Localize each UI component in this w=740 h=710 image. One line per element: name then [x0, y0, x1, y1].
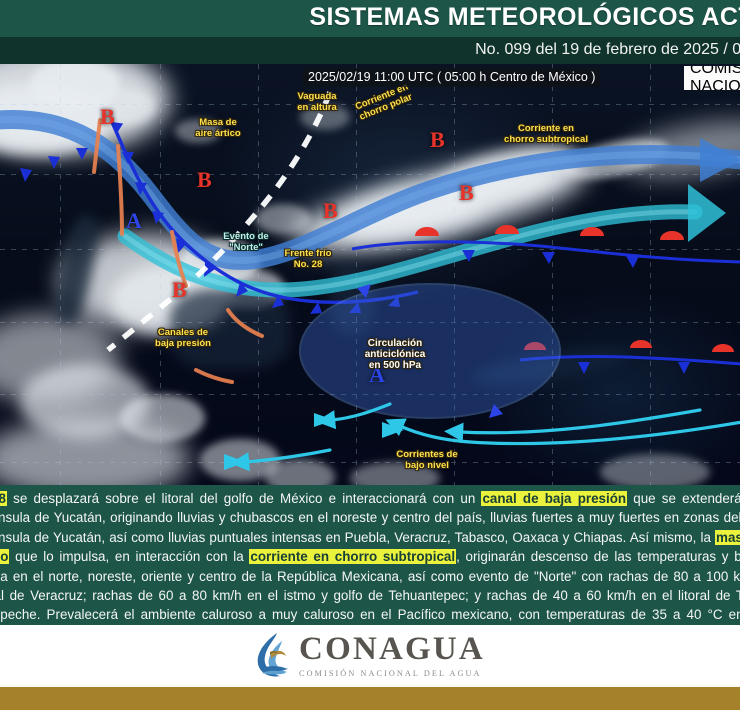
bulletin-paragraph: o. 28 se desplazará sobre el litoral del… — [0, 489, 740, 625]
bulletin-highlight-chorro: corriente en chorro subtropical — [249, 549, 456, 564]
low-pressure-symbol-6: B — [459, 182, 474, 204]
low-pressure-symbol-1: B — [100, 106, 115, 128]
satellite-map[interactable]: B B A B B B B A Vaguada en altura Masa d… — [0, 64, 740, 485]
bulletin-seg-3: que lo impulsa, en interacción con la — [9, 549, 249, 564]
footer-tagline: COMISIÓN NACIONAL DEL AGUA — [299, 669, 485, 678]
bulletin-front-number: o. 28 — [0, 491, 7, 506]
footer-logo-bar: CONAGUA COMISIÓN NACIONAL DEL AGUA — [0, 625, 740, 685]
low-pressure-symbol-5: B — [430, 129, 445, 151]
label-corriente-chorro-subtropical: Corriente en chorro subtropical — [490, 124, 602, 145]
low-pressure-symbol-4: B — [323, 200, 338, 222]
bulletin-seg-1: se desplazará sobre el litoral del golfo… — [7, 491, 481, 506]
conagua-logo-icon-footer — [255, 632, 289, 678]
front-barbs-upper — [20, 148, 88, 182]
conagua-badge: CONAGUA COMISIÓN NACIONAL DEL AGUA — [684, 66, 740, 90]
label-canales-baja-presion: Canales de baja presión — [144, 328, 222, 349]
low-pressure-symbol-2: B — [197, 169, 212, 191]
polar-jet-stream — [0, 119, 740, 260]
label-circulacion-anticiclonica: Circulación anticiclónica en 500 hPa — [348, 338, 442, 372]
map-timestamp: 2025/02/19 11:00 UTC ( 05:00 h Centro de… — [303, 68, 600, 87]
label-frente-frio-28: Frente frío No. 28 — [272, 249, 344, 270]
label-masa-aire-artico: Masa de aire ártico — [178, 118, 258, 139]
bulletin-text-panel: o. 28 se desplazará sobre el litoral del… — [0, 485, 740, 625]
bulletin-number: No. 099 del 19 de febrero de 2025 / 06 — [475, 41, 740, 59]
page-title: SISTEMAS METEOROLÓGICOS ACT — [309, 3, 740, 32]
label-corrientes-bajo-nivel: Corrientes de bajo nivel — [384, 450, 470, 471]
conagua-badge-tagline: COMISIÓN NACIONAL DEL AGUA — [690, 66, 740, 90]
low-pressure-symbol-3: B — [172, 279, 187, 301]
footer-accent-band — [0, 685, 740, 710]
footer-brand: CONAGUA — [299, 633, 485, 666]
high-pressure-symbol-1: A — [126, 210, 142, 232]
weather-bulletin-page: SISTEMAS METEOROLÓGICOS ACT No. 099 del … — [0, 0, 740, 710]
bulletin-highlight-canal: canal de baja presión — [481, 491, 627, 506]
